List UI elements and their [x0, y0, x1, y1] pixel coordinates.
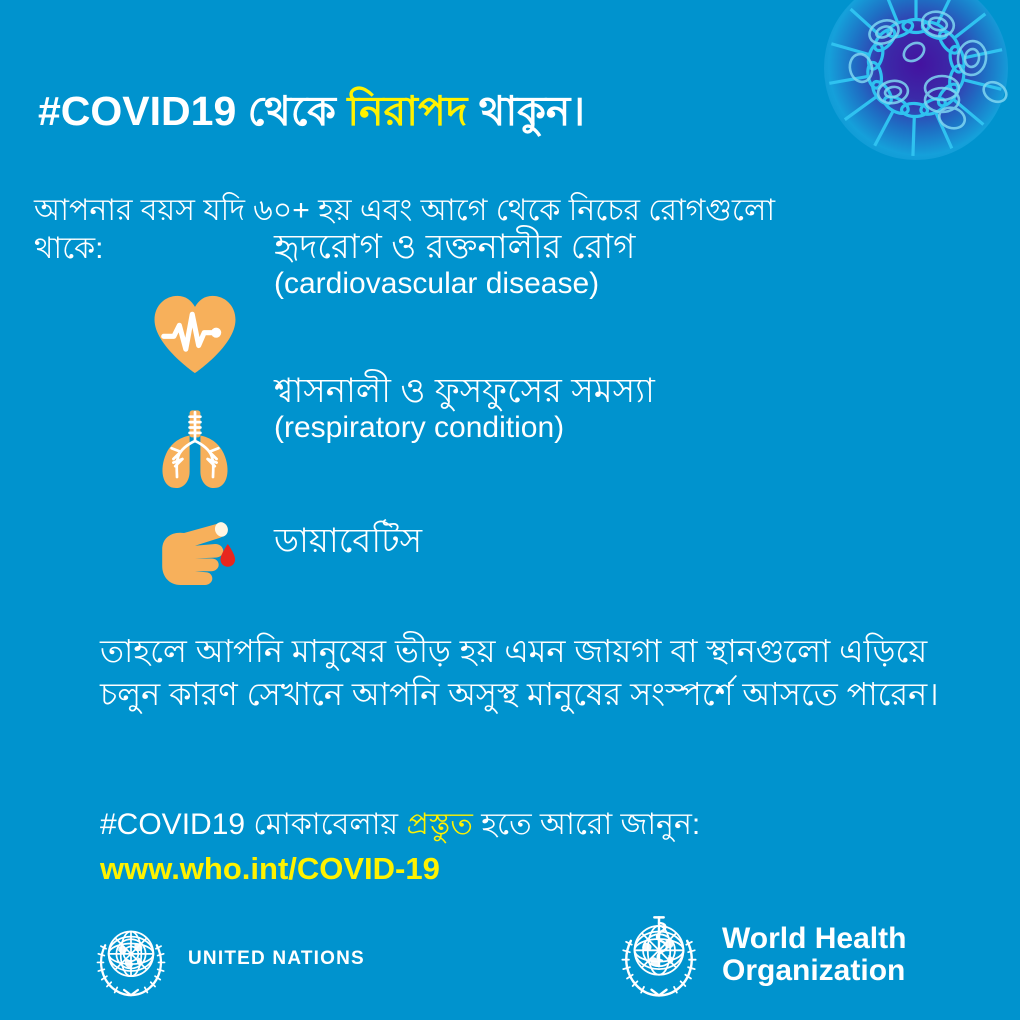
condition-label-bn: হৃদরোগ ও রক্তনালীর রোগ: [274, 228, 980, 266]
united-nations-emblem: [88, 916, 174, 1002]
who-label-line1: World Health: [722, 923, 906, 955]
who-label: World Health Organization: [722, 923, 906, 988]
who-label-line2: Organization: [722, 955, 906, 987]
condition-label-bn: শ্বাসনালী ও ফুসফুসের সমস্যা: [274, 372, 980, 410]
headline-part2: থাকুন।: [467, 88, 585, 134]
cta-highlight: প্রস্তুত: [406, 808, 472, 841]
condition-label-bn: ডায়াবেটিস: [274, 522, 980, 560]
lungs-icon: [140, 394, 250, 506]
condition-label-en: (respiratory condition): [274, 410, 980, 446]
world-health-organization-logo: World Health Organization: [612, 908, 906, 1002]
world-health-organization-emblem: [612, 908, 706, 1002]
call-to-action: #COVID19 মোকাবেলায় প্রস্তুত হতে আরো জান…: [100, 805, 980, 890]
covid19-awareness-poster: #COVID19 থেকে নিরাপদ থাকুন। আপনার বয়স য…: [0, 0, 1020, 1020]
body-paragraph: তাহলে আপনি মানুষের ভীড় হয় এমন জায়গা ব…: [100, 630, 980, 715]
page-title: #COVID19 থেকে নিরাপদ থাকুন।: [38, 88, 585, 135]
list-item: ডায়াবেটিস: [140, 506, 980, 618]
united-nations-logo: UNITED NATIONS: [88, 916, 365, 1002]
condition-label-en: (cardiovascular disease): [274, 266, 980, 302]
cta-part1: #COVID19 মোকাবেলায়: [100, 808, 406, 841]
list-item: শ্বাসনালী ও ফুসফুসের সমস্যা (respiratory…: [140, 390, 980, 506]
list-item: হৃদরোগ ও রক্তনালীর রোগ (cardiovascular d…: [140, 256, 980, 390]
who-website-link[interactable]: www.who.int/COVID-19: [100, 849, 980, 890]
finger-blood-drop-icon: [140, 498, 250, 610]
heart-pulse-icon: [140, 278, 250, 390]
condition-list: হৃদরোগ ও রক্তনালীর রোগ (cardiovascular d…: [140, 256, 980, 618]
headline-part1: #COVID19 থেকে: [38, 88, 347, 134]
united-nations-label: UNITED NATIONS: [188, 948, 365, 970]
cta-part2: হতে আরো জানুন:: [473, 808, 700, 841]
headline-highlight: নিরাপদ: [347, 88, 467, 134]
